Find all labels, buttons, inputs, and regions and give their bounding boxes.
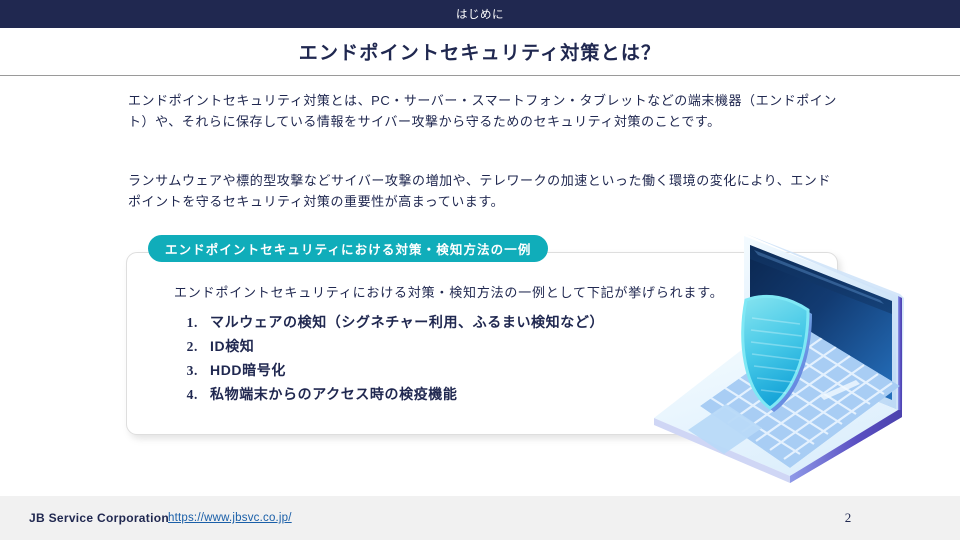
- title-divider: [0, 75, 960, 76]
- page-title: エンドポイントセキュリティ対策とは？: [0, 38, 960, 65]
- list-item-label: ID検知: [210, 336, 254, 356]
- list-item-number: 1.: [172, 315, 210, 331]
- footer-brand: JB Service Corporation: [29, 511, 169, 525]
- page-number: 2: [836, 510, 860, 526]
- list-item: 2. ID検知: [172, 336, 604, 360]
- section-header-bar: はじめに: [0, 0, 960, 28]
- card-badge-label: エンドポイントセキュリティにおける対策・検知方法の一例: [165, 239, 531, 258]
- list-item-number: 2.: [172, 339, 210, 355]
- list-item-label: HDD暗号化: [210, 360, 286, 380]
- list-item: 4. 私物端末からのアクセス時の検疫機能: [172, 384, 604, 408]
- detection-methods-list: 1. マルウェアの検知（シグネチャー利用、ふるまい検知など） 2. ID検知 3…: [172, 312, 604, 408]
- footer-url-link[interactable]: https://www.jbsvc.co.jp/: [168, 512, 292, 524]
- intro-paragraph-2: ランサムウェアや標的型攻撃などサイバー攻撃の増加や、テレワークの加速といった働く…: [128, 170, 844, 212]
- list-item: 3. HDD暗号化: [172, 360, 604, 384]
- list-item: 1. マルウェアの検知（シグネチャー利用、ふるまい検知など）: [172, 312, 604, 336]
- list-item-label: 私物端末からのアクセス時の検疫機能: [210, 384, 458, 404]
- list-item-number: 4.: [172, 387, 210, 403]
- card-badge: エンドポイントセキュリティにおける対策・検知方法の一例: [148, 235, 548, 262]
- card-lead-text: エンドポイントセキュリティにおける対策・検知方法の一例として下記が挙げられます。: [174, 282, 724, 301]
- section-label: はじめに: [456, 6, 504, 22]
- intro-paragraph-1: エンドポイントセキュリティ対策とは、PC・サーバー・スマートフォン・タブレットな…: [128, 90, 844, 132]
- list-item-number: 3.: [172, 363, 210, 379]
- list-item-label: マルウェアの検知（シグネチャー利用、ふるまい検知など）: [210, 312, 604, 332]
